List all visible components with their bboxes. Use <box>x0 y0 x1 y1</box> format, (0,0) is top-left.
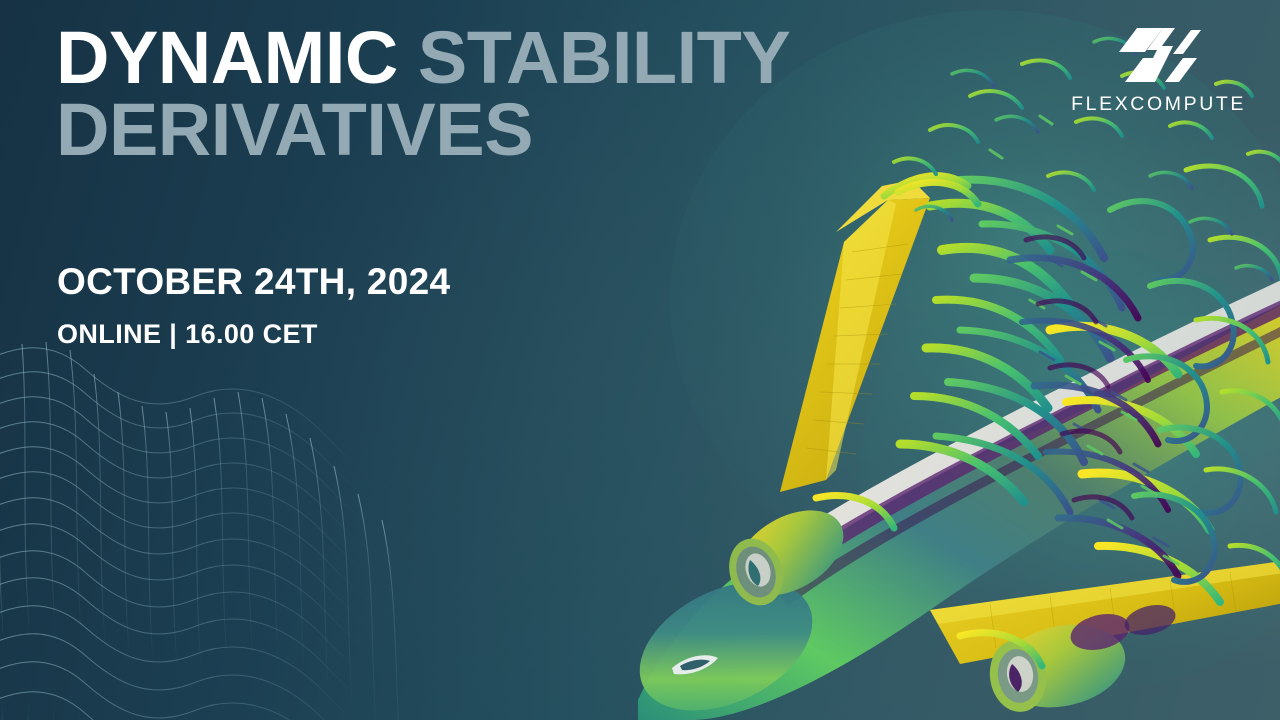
webinar-promo-banner: DYNAMIC STABILITY DERIVATIVES OCTOBER 24… <box>0 0 1280 720</box>
event-date: OCTOBER 24TH, 2024 <box>57 262 450 303</box>
headline-line-2: DERIVATIVES <box>56 94 936 166</box>
flexcompute-mark-icon <box>1117 24 1201 86</box>
flexcompute-wordmark: FLEXCOMPUTE <box>1071 93 1246 116</box>
headline-line-1: DYNAMIC STABILITY <box>56 22 936 94</box>
event-format-time: ONLINE | 16.00 CET <box>57 319 450 350</box>
page-title: DYNAMIC STABILITY DERIVATIVES <box>56 22 936 166</box>
headline-word-dynamic: DYNAMIC <box>56 16 398 99</box>
headline-word-stability: STABILITY <box>418 16 790 99</box>
flexcompute-logo[interactable]: FLEXCOMPUTE <box>1071 24 1246 116</box>
wireframe-surface-mesh <box>0 330 400 720</box>
event-details: OCTOBER 24TH, 2024 ONLINE | 16.00 CET <box>57 262 450 350</box>
